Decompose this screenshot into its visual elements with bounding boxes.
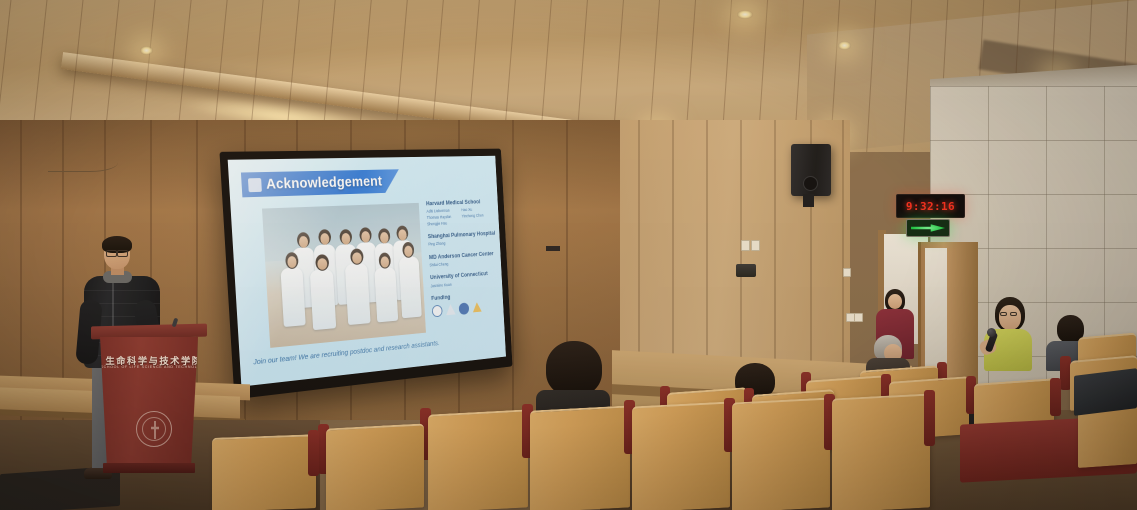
- questioner-face: [999, 305, 1021, 330]
- screen-mount: [546, 246, 560, 251]
- slide-title: Acknowledgement: [266, 174, 383, 192]
- acknowledgement-institution-list: Harvard Medical School Aditi Lieberman H…: [426, 198, 501, 317]
- attendee-head: [546, 341, 602, 396]
- ceiling-downlight-icon: [140, 46, 153, 55]
- ceiling-downlight-icon: [737, 10, 753, 19]
- glasses-icon: [106, 250, 128, 255]
- podium-body: 生命科学与技术学院 SCHOOL OF LIFE SCIENCE AND TEC…: [100, 337, 198, 465]
- glasses-icon: [1000, 312, 1017, 316]
- university-logo-icon: [248, 178, 262, 192]
- laptop[interactable]: [1074, 368, 1137, 416]
- microphone-head-icon: [987, 328, 996, 337]
- wall-plank-line: [512, 120, 514, 420]
- wall-outlet-plate[interactable]: [854, 313, 863, 322]
- wall-outlet-plate[interactable]: [843, 268, 851, 277]
- most-logo-icon: [445, 303, 456, 316]
- nsfc-logo-icon: [432, 304, 443, 317]
- lab-group-photo: [262, 203, 426, 348]
- lecture-hall-scene: Acknowledgement: [0, 0, 1137, 510]
- institution-members: Aditi Lieberman Hao Xu Thomas Haydon Yin…: [426, 206, 496, 228]
- wall-control-panel[interactable]: [736, 264, 756, 277]
- ceiling-downlight-icon: [838, 41, 851, 50]
- seat[interactable]: [732, 397, 830, 510]
- loudspeaker-icon: [791, 144, 831, 196]
- clock-time: 9:32:16: [906, 200, 955, 213]
- speaker-cone-icon: [803, 176, 818, 191]
- seat-armrest: [308, 430, 319, 476]
- seat-armrest: [1050, 378, 1061, 416]
- university-seal-icon: [136, 411, 172, 447]
- slide-title-bar: Acknowledgement: [241, 169, 400, 197]
- funding-logo-row: [432, 299, 501, 317]
- wall-switch-plate[interactable]: [751, 240, 760, 251]
- seat[interactable]: [212, 434, 316, 510]
- exit-sign: [906, 219, 950, 237]
- exit-arrow-icon: [911, 223, 945, 233]
- speaker-bracket: [803, 194, 814, 207]
- foundation-logo-icon: [472, 301, 483, 313]
- podium-base: [103, 463, 195, 473]
- wall-plank-line: [20, 120, 22, 420]
- podium-english-label: SCHOOL OF LIFE SCIENCE AND TECHNOLOGY: [100, 365, 208, 369]
- podium: 生命科学与技术学院 SCHOOL OF LIFE SCIENCE AND TEC…: [95, 325, 203, 475]
- podium-cable: [48, 148, 118, 172]
- tile-grout-line: [930, 86, 1137, 87]
- seat[interactable]: [428, 409, 528, 510]
- attendee-face: [888, 294, 902, 309]
- seat[interactable]: [326, 423, 424, 510]
- tile-grout-line: [1046, 86, 1047, 386]
- seat[interactable]: [530, 405, 630, 510]
- seat-armrest: [924, 390, 935, 446]
- slide-surface: Acknowledgement: [228, 156, 506, 387]
- seat[interactable]: [832, 393, 930, 510]
- led-wall-clock: 9:32:16: [896, 194, 965, 218]
- projection-screen: Acknowledgement: [219, 149, 512, 400]
- nih-logo-icon: [459, 302, 470, 315]
- wall-switch-plate[interactable]: [741, 240, 750, 251]
- tile-grout-line: [930, 140, 1137, 141]
- seat[interactable]: [632, 401, 730, 510]
